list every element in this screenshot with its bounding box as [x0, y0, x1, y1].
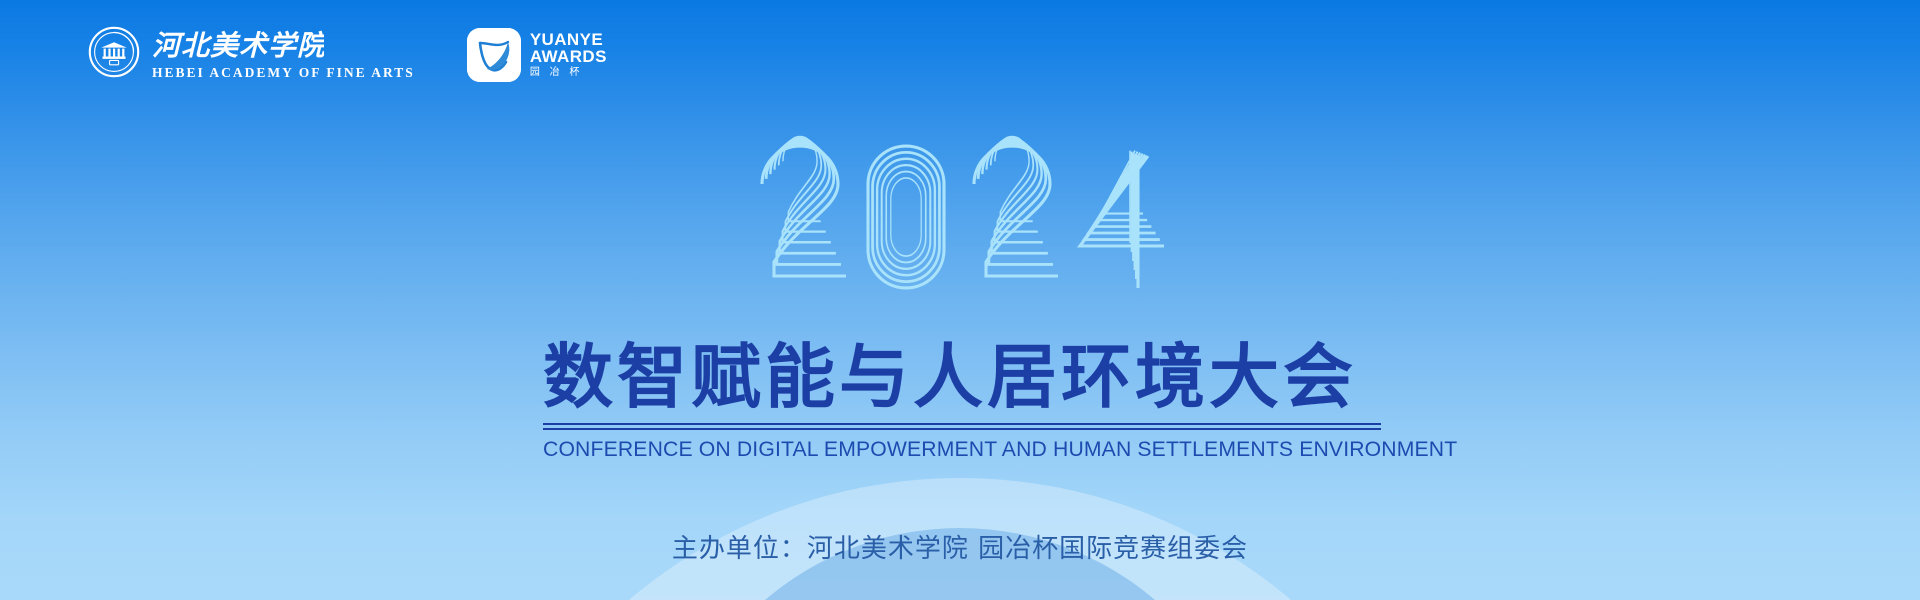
- page-subtitle: CONFERENCE ON DIGITAL EMPOWERMENT AND HU…: [543, 437, 1368, 462]
- organizer-line: 主办单位：河北美术学院 园冶杯国际竞赛组委会: [0, 528, 1920, 565]
- logo-bar: 河北美术学院 HEBEI ACADEMY OF FINE ARTS YUANYE…: [88, 26, 607, 83]
- hebei-academy-name-en: HEBEI ACADEMY OF FINE ARTS: [152, 65, 415, 81]
- yuanye-line-3-cn: 园 冶 杯: [530, 68, 607, 78]
- hebei-academy-name-cn: 河北美术学院: [152, 28, 415, 62]
- yuanye-line-1: YUANYE: [530, 31, 607, 48]
- yuanye-wordmark: YUANYE AWARDS 园 冶 杯: [530, 31, 607, 78]
- hebei-academy-logo: 河北美术学院 HEBEI ACADEMY OF FINE ARTS: [88, 26, 415, 83]
- year-graphic-2024: [750, 132, 1170, 292]
- svg-text:河北美术学院: 河北美术学院: [152, 29, 324, 62]
- page-title: 数智赋能与人居环境大会: [543, 340, 1381, 414]
- title-block: 数智赋能与人居环境大会 CONFERENCE ON DIGITAL EMPOWE…: [543, 340, 1381, 462]
- title-divider: [543, 423, 1381, 430]
- conference-banner: 河北美术学院 HEBEI ACADEMY OF FINE ARTS YUANYE…: [0, 0, 1920, 600]
- yuanye-leaf-mark-icon: [467, 28, 521, 82]
- yuanye-line-2: AWARDS: [530, 48, 607, 65]
- hebei-academy-seal-icon: [88, 26, 140, 83]
- divider-line-bottom: [543, 428, 1381, 430]
- divider-line-top: [543, 423, 1381, 425]
- hebei-academy-wordmark: 河北美术学院 HEBEI ACADEMY OF FINE ARTS: [152, 28, 415, 81]
- yuanye-awards-logo: YUANYE AWARDS 园 冶 杯: [467, 28, 607, 82]
